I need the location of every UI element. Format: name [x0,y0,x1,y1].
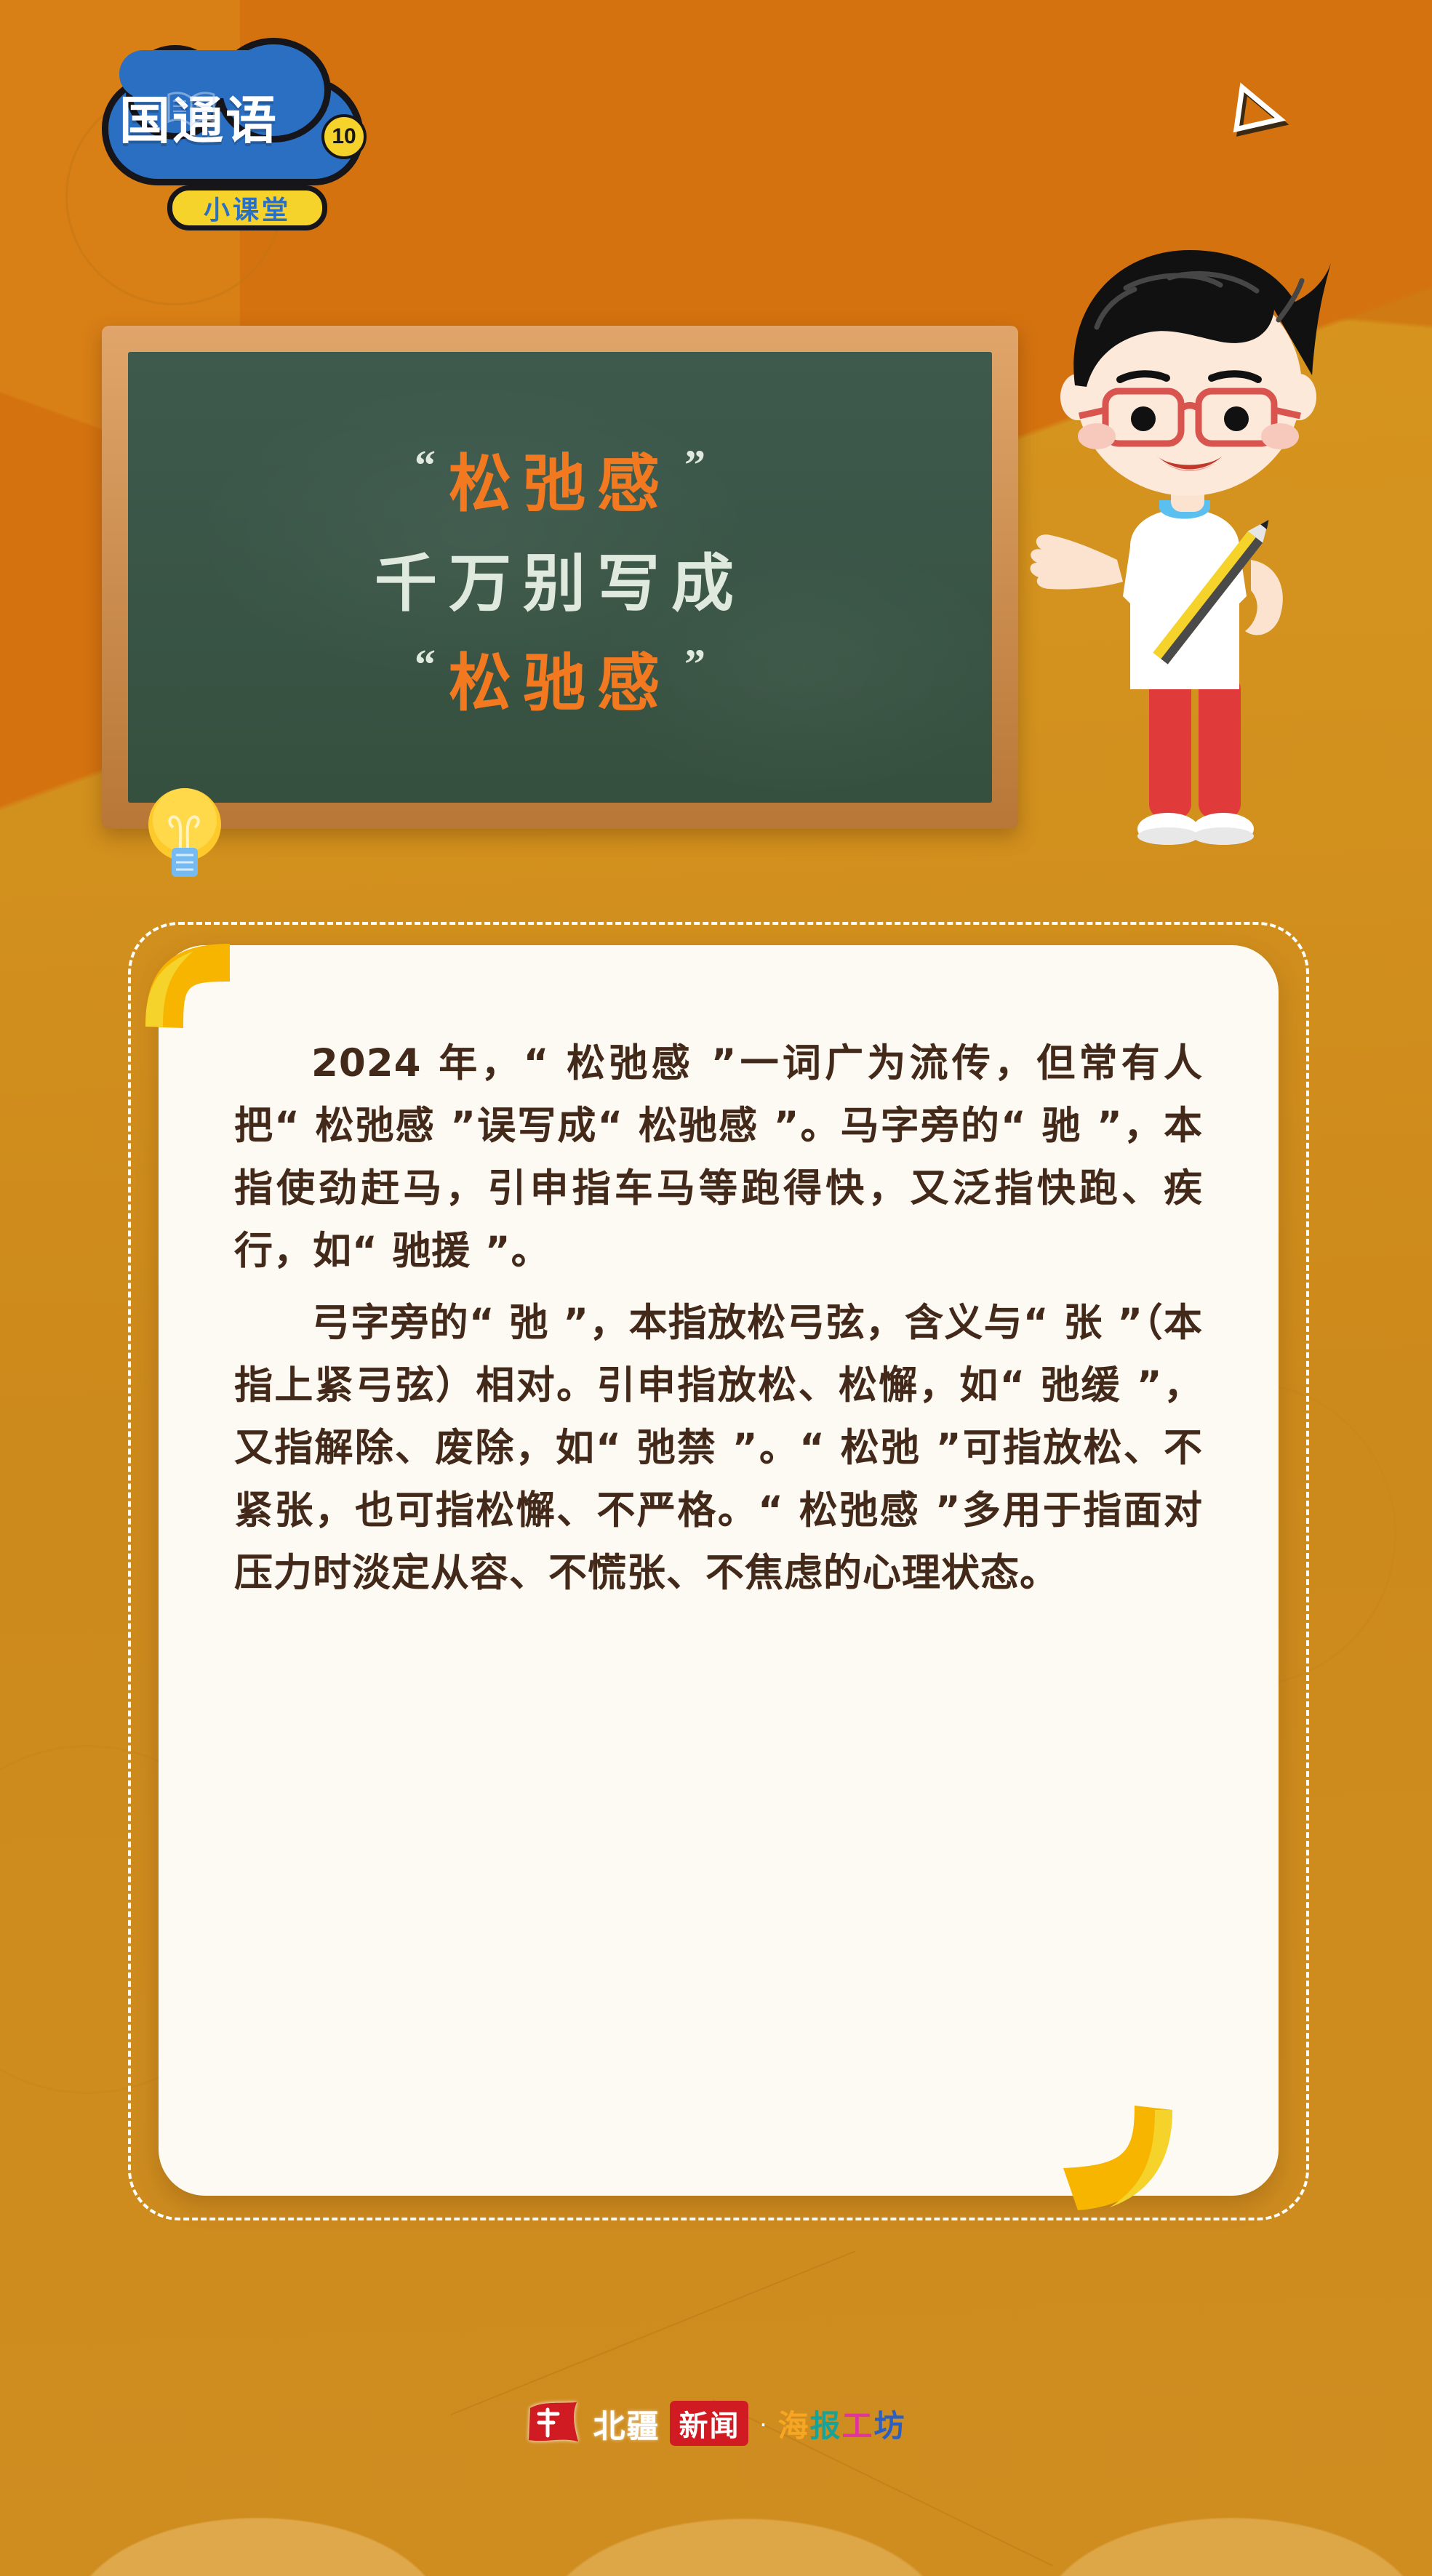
red-flag-logo-icon [526,2401,583,2446]
logo-title-text: 国通语 [119,95,337,146]
footer-brand-text: 北疆 [593,2400,660,2447]
logo-episode-badge: 10 [321,114,367,159]
right-eye [1224,406,1249,431]
blackboard-line-1-text: 松弛感 [449,433,671,523]
right-leg [1199,675,1241,819]
blackboard-line-2: 千万别写成 [128,532,992,623]
blackboard-line-1: “ 松弛感 ” [128,433,992,523]
footer-studio-char: 报 [809,2410,841,2444]
footer-studio-char: 坊 [874,2410,906,2444]
brand-logo[interactable]: 国通语 10 小课堂 [86,69,399,236]
right-arm [1245,560,1283,635]
quote-open-mark: “ [415,643,436,686]
blackboard-surface: “ 松弛感 ” 千万别写成 “ 松驰感 ” [128,352,992,803]
footer-studio-char: 海 [777,2410,809,2444]
footer-studio-char: 工 [842,2410,874,2444]
left-leg [1149,675,1191,819]
logo-subtitle-text: 小课堂 [167,185,327,230]
left-hand [1031,534,1124,589]
shirt [1123,509,1247,689]
right-cheek [1261,423,1299,449]
poster-root: 国通语 10 小课堂 “ 松弛感 ” 千万别写成 “ 松驰感 ” [0,0,1432,2576]
left-eye [1131,406,1156,431]
content-card: 2024 年，“ 松弛感 ”一词广为流传，但常有人把“ 松弛感 ”误写成“ 松驰… [159,945,1279,2196]
blackboard-line-3-text: 松驰感 [449,632,671,723]
blackboard-line-2-text: 千万别写成 [375,532,745,623]
play-triangle-icon [1225,74,1295,145]
lightbulb-icon [144,784,225,893]
content-paragraph: 2024 年，“ 松弛感 ”一词广为流传，但常有人把“ 松弛感 ”误写成“ 松驰… [234,1032,1203,1282]
background-bottom-arcs [0,2336,1432,2576]
left-cheek [1078,423,1116,449]
ribbon-corner-bottom-right-icon [1030,2088,1175,2216]
blackboard: “ 松弛感 ” 千万别写成 “ 松驰感 ” [102,326,1018,829]
quote-close-mark: ” [684,643,705,686]
open-book-icon [166,89,217,130]
quote-close-mark: ” [684,444,705,486]
content-paragraph: 弓字旁的“ 弛 ”，本指放松弓弦，含义与“ 张 ”（本指上紧弓弦）相对。引申指放… [234,1292,1203,1604]
footer-separator: · [759,2408,767,2439]
footer-studio-text: 海报工坊 [777,2402,905,2446]
footer-news-badge: 新闻 [670,2401,748,2446]
quote-open-mark: “ [415,444,436,486]
blackboard-line-3: “ 松驰感 ” [128,632,992,723]
student-boy-illustration [980,218,1388,858]
ribbon-corner-top-left-icon [143,939,256,1053]
footer-branding[interactable]: 北疆 新闻 · 海报工坊 [0,2391,1432,2456]
